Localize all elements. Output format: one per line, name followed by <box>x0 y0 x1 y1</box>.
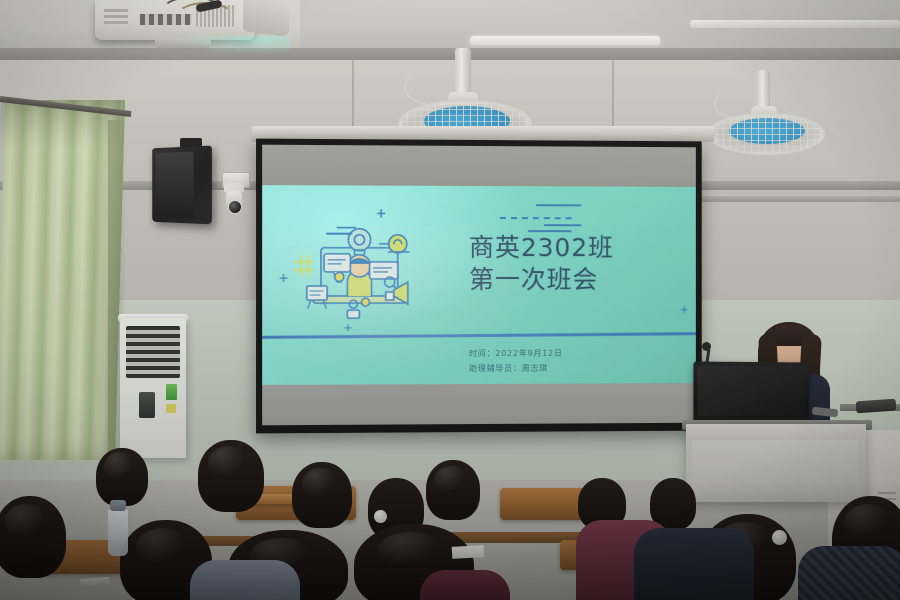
classroom-scene: + + + + 商英2302班 第一次班会 时间：2022年9月12日 助理辅导… <box>0 0 900 600</box>
screen-letterbox-top <box>262 145 696 187</box>
plus-mark-icon: + <box>278 272 288 284</box>
online-learning-illustration <box>293 203 434 336</box>
monitor-screen <box>698 366 805 417</box>
projector-keypad <box>104 8 128 24</box>
decor-line <box>544 224 582 226</box>
screen-letterbox-bottom <box>262 383 696 425</box>
air-conditioner-vents <box>126 326 180 378</box>
plus-mark-icon: + <box>376 208 387 221</box>
plus-mark-icon: + <box>343 322 352 333</box>
hair-highlight <box>434 466 468 494</box>
hair-tie <box>374 510 387 523</box>
smartphone-on-desk <box>80 577 111 589</box>
ceiling-light-tube <box>470 36 660 45</box>
speaker-grille <box>156 151 194 218</box>
screen-surface: + + + + 商英2302班 第一次班会 时间：2022年9月12日 助理辅导… <box>262 145 696 426</box>
student-shoulders <box>634 528 754 600</box>
hair-highlight <box>208 446 248 480</box>
student-shoulders <box>798 546 900 600</box>
bottle-cap <box>110 500 126 511</box>
hair-highlight <box>136 528 190 566</box>
wall-speaker <box>152 146 212 225</box>
slide-presenter: 助理辅导员：周志琪 <box>469 361 682 377</box>
water-bottle <box>108 508 128 556</box>
projector-lens-housing <box>243 0 289 37</box>
decor-dashed-line <box>500 217 572 219</box>
slide-title: 商英2302班 第一次班会 <box>469 232 682 296</box>
slide-date: 时间：2022年9月12日 <box>469 345 682 361</box>
hair-highlight <box>302 468 338 498</box>
hair-tie <box>772 530 787 545</box>
podium-monitor <box>693 362 808 427</box>
slide-subtitle: 时间：2022年9月12日 助理辅导员：周志琪 <box>469 345 682 376</box>
ceiling-light-tube-right <box>690 20 900 28</box>
projection-screen: + + + + 商英2302班 第一次班会 时间：2022年9月12日 助理辅导… <box>256 139 702 434</box>
air-conditioner-display <box>139 392 155 418</box>
hair-highlight <box>844 504 892 540</box>
decor-line <box>536 204 582 206</box>
projector-beam-glow <box>180 36 290 54</box>
plus-mark-icon: + <box>680 306 688 316</box>
student-shoulders <box>420 570 510 600</box>
window-curtain <box>0 100 125 460</box>
energy-label <box>166 384 177 400</box>
hair-highlight <box>4 504 48 540</box>
presentation-slide: + + + + 商英2302班 第一次班会 时间：2022年9月12日 助理辅导… <box>262 185 696 385</box>
product-sticker <box>166 404 176 413</box>
paper-sheet <box>452 545 485 559</box>
camera-lens-icon <box>228 200 242 214</box>
hair-highlight <box>378 532 444 568</box>
ceiling-fan-cage <box>707 113 825 155</box>
slide-title-line-2: 第一次班会 <box>469 264 682 296</box>
hair-highlight <box>104 452 136 482</box>
lectern-front-panel <box>692 440 858 496</box>
slide-title-line-1: 商英2302班 <box>469 232 682 264</box>
student-shoulders <box>190 560 300 600</box>
